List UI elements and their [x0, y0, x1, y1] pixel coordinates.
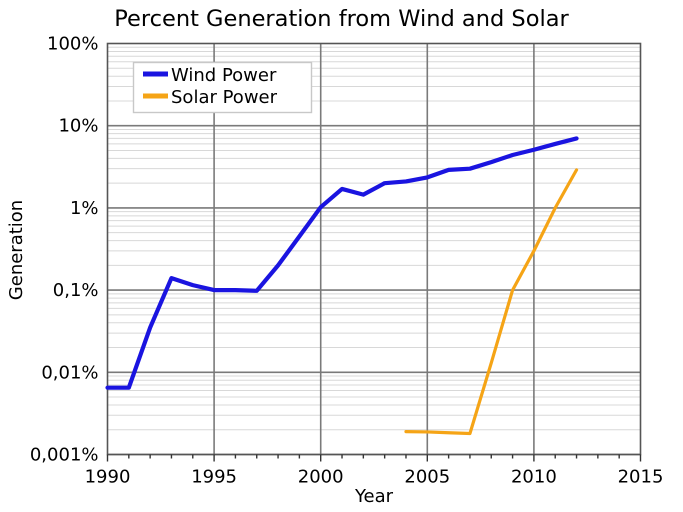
x-tick-label: 1990 — [85, 467, 131, 488]
x-tick-label: 1995 — [191, 467, 237, 488]
figure-background — [0, 0, 683, 512]
y-tick-label: 100% — [47, 34, 98, 55]
x-axis-label: Year — [354, 486, 394, 507]
chart-title: Percent Generation from Wind and Solar — [114, 6, 569, 32]
legend-label: Wind Power — [171, 65, 277, 86]
chart-figure: Percent Generation from Wind and Solar 1… — [0, 0, 683, 512]
y-tick-label: 0,01% — [41, 362, 98, 383]
y-tick-label: 0,001% — [30, 445, 99, 466]
x-tick-label: 2015 — [618, 467, 664, 488]
y-axis-label: Generation — [6, 200, 27, 300]
chart-legend[interactable]: Wind PowerSolar Power — [134, 63, 312, 113]
x-tick-label: 2010 — [511, 467, 557, 488]
y-tick-label: 10% — [58, 116, 98, 137]
legend-label: Solar Power — [171, 87, 278, 108]
chart-container: Percent Generation from Wind and Solar 1… — [0, 0, 683, 512]
y-tick-label: 0,1% — [53, 280, 99, 301]
x-tick-label: 2000 — [298, 467, 344, 488]
x-tick-label: 2005 — [404, 467, 450, 488]
y-tick-label: 1% — [70, 198, 99, 219]
